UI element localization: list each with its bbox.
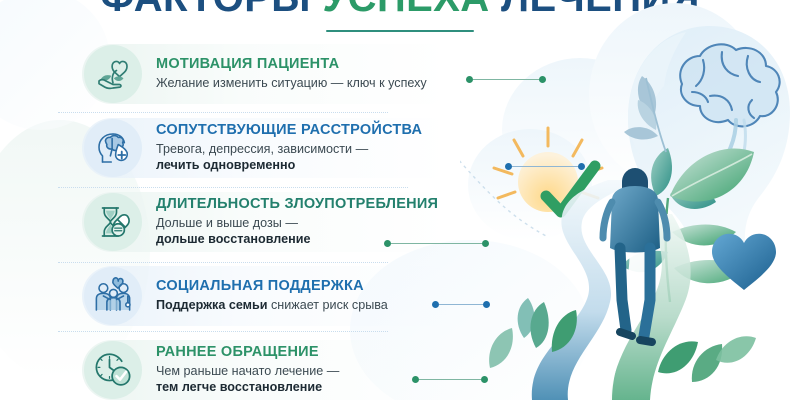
connector-dot-end [483, 301, 490, 308]
factor-description-line2: тем легче восстановление [156, 380, 339, 396]
connector-segment [473, 79, 539, 81]
factor-row-comorbid-disorders[interactable]: СОПУТСТВУЮЩИЕ РАССТРОЙСТВА Тревога, депр… [84, 116, 504, 180]
clock-check-icon [84, 341, 142, 399]
connector-segment [419, 379, 481, 381]
connector-dot-end [539, 76, 546, 83]
factor-description-emphasis: лечить одновременно [156, 158, 295, 172]
family-heart-icon [84, 267, 142, 325]
hand-holding-plant-heart-icon [84, 45, 142, 103]
head-brain-plus-icon [84, 119, 142, 177]
connector-dot-end [578, 163, 585, 170]
infographic-root: ФАКТОРЫ УСПЕХА ЛЕЧЕНИЯ [0, 0, 800, 400]
connector-line-1 [466, 76, 546, 83]
factor-text-block: РАННЕЕ ОБРАЩЕНИЕ Чем раньше начато лечен… [156, 344, 339, 395]
connector-dot-start [412, 376, 419, 383]
factor-title: СОПУТСТВУЮЩИЕ РАССТРОЙСТВА [156, 122, 422, 139]
connector-dot-start [432, 301, 439, 308]
factor-description-emphasis: тем легче восстановление [156, 380, 322, 394]
connector-segment [512, 166, 578, 168]
connector-line-2 [505, 163, 585, 170]
page-title-part1: ФАКТОРЫ [100, 0, 322, 20]
connector-segment [439, 304, 483, 306]
factor-text-block: СОЦИАЛЬНАЯ ПОДДЕРЖКА Поддержка семьи сни… [156, 278, 388, 314]
factor-description: Поддержка семьи снижает риск срыва [156, 298, 388, 314]
connector-line-5 [412, 376, 488, 383]
connector-line-3 [384, 240, 489, 247]
connector-dot-end [482, 240, 489, 247]
hourglass-pill-icon [84, 193, 142, 251]
connector-dot-end [481, 376, 488, 383]
factor-description-line1: Дольше и выше дозы — [156, 216, 438, 232]
factor-text-block: МОТИВАЦИЯ ПАЦИЕНТА Желание изменить ситу… [156, 56, 427, 92]
factor-title: МОТИВАЦИЯ ПАЦИЕНТА [156, 56, 427, 73]
factor-description: Желание изменить ситуацию — ключ к успех… [156, 76, 427, 92]
connector-segment [391, 243, 482, 245]
factor-description-rest: снижает риск срыва [267, 298, 387, 312]
connector-line-4 [432, 301, 490, 308]
connector-dot-start [505, 163, 512, 170]
factor-title: РАННЕЕ ОБРАЩЕНИЕ [156, 344, 339, 361]
factor-title: СОЦИАЛЬНАЯ ПОДДЕРЖКА [156, 278, 388, 295]
factor-description-emphasis: Поддержка семьи [156, 298, 267, 312]
factor-description-emphasis: дольше восстановление [156, 232, 310, 246]
factor-description-line1: Чем раньше начато лечение — [156, 364, 339, 380]
factor-text-block: СОПУТСТВУЮЩИЕ РАССТРОЙСТВА Тревога, депр… [156, 122, 422, 173]
factor-row-motivation[interactable]: МОТИВАЦИЯ ПАЦИЕНТА Желание изменить ситу… [84, 42, 504, 106]
factor-row-social-support[interactable]: СОЦИАЛЬНАЯ ПОДДЕРЖКА Поддержка семьи сни… [84, 264, 504, 328]
factor-description-line1: Тревога, депрессия, зависимости — [156, 142, 422, 158]
connector-dot-start [466, 76, 473, 83]
factor-row-early-treatment[interactable]: РАННЕЕ ОБРАЩЕНИЕ Чем раньше начато лечен… [84, 338, 504, 400]
connector-dot-start [384, 240, 391, 247]
factor-list: МОТИВАЦИЯ ПАЦИЕНТА Желание изменить ситу… [84, 42, 504, 400]
title-underline-rule [326, 30, 474, 32]
factor-title: ДЛИТЕЛЬНОСТЬ ЗЛОУПОТРЕБЛЕНИЯ [156, 196, 438, 213]
recovery-journey-illustration [460, 0, 800, 400]
factor-description-line2: лечить одновременно [156, 158, 422, 174]
